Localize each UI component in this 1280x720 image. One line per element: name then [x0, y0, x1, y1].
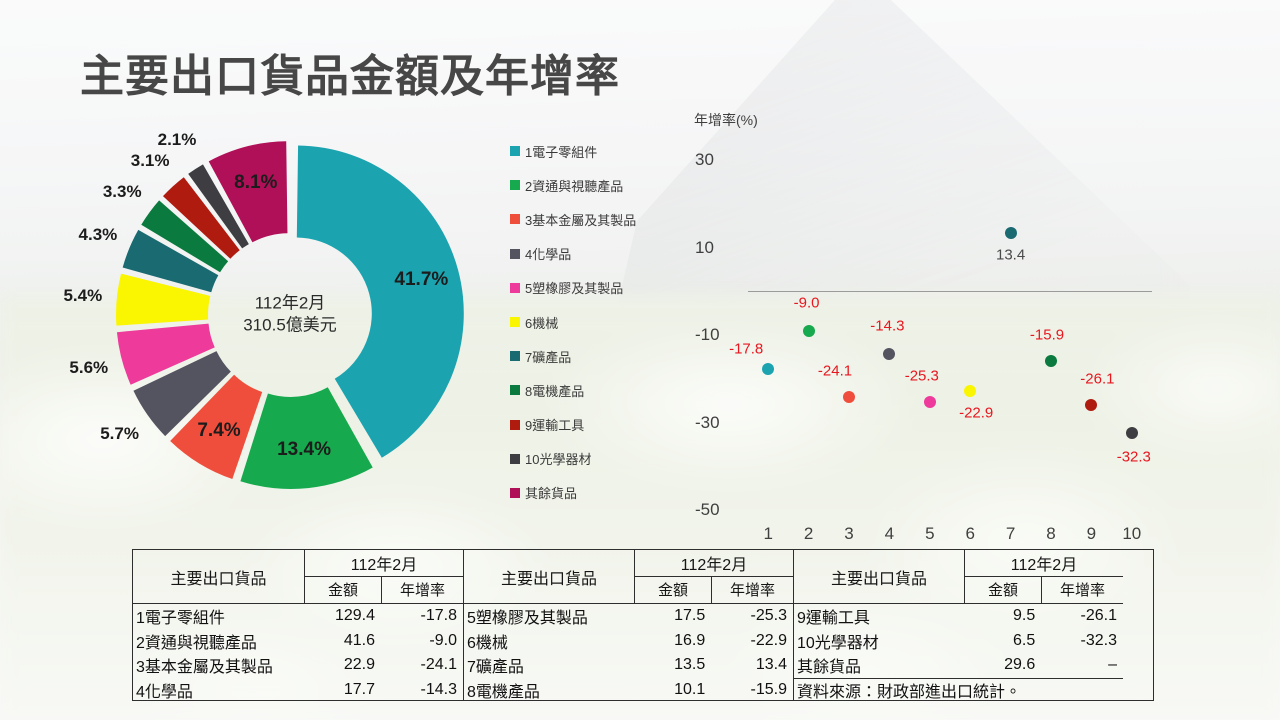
donut-percent-label: 5.4% — [63, 286, 102, 306]
legend-item-label: 8電機產品 — [525, 381, 584, 400]
table-cell-name: 其餘貨品 — [794, 653, 965, 677]
table-cell-amount: 22.9 — [305, 656, 381, 674]
table-row: 9運輸工具9.5-26.1 — [794, 604, 1123, 629]
table-cell-rate: -22.9 — [711, 632, 793, 650]
chart-legend: 1電子零組件2資通與視聽產品3基本金屬及其製品4化學品5塑橡膠及其製品6機械7礦… — [510, 134, 685, 510]
legend-item[interactable]: 10光學器材 — [510, 442, 685, 476]
donut-center-period: 112年2月 — [243, 293, 337, 315]
scatter-point-label: -26.1 — [1080, 371, 1114, 388]
legend-color-swatch-icon — [510, 214, 520, 224]
table-cell-amount: 13.5 — [635, 656, 711, 674]
scatter-x-tick-label: 7 — [1006, 524, 1015, 544]
legend-item[interactable]: 8電機產品 — [510, 373, 685, 407]
scatter-chart: 年增率(%) 3010-10-30-50 12345678910 -17.8-9… — [690, 110, 1170, 535]
table-row: 1電子零組件129.4-17.8 — [133, 604, 463, 629]
scatter-x-tick-label: 3 — [844, 524, 853, 544]
legend-item[interactable]: 4化學品 — [510, 237, 685, 271]
legend-item[interactable]: 6機械 — [510, 305, 685, 339]
scatter-zero-line — [748, 291, 1152, 292]
donut-percent-label: 8.1% — [234, 172, 277, 194]
scatter-point-label: -24.1 — [818, 362, 852, 379]
scatter-point — [843, 391, 855, 403]
table-row: 2資通與視聽產品41.6-9.0 — [133, 629, 463, 654]
table-cell-amount: 129.4 — [305, 607, 381, 625]
table-cell-amount: 17.5 — [635, 607, 711, 625]
table-row: 7礦產品13.513.4 — [464, 653, 793, 678]
donut-percent-label: 4.3% — [79, 225, 118, 245]
scatter-x-tick-label: 8 — [1046, 524, 1055, 544]
table-cell-name: 9運輸工具 — [794, 604, 965, 628]
table-cell-amount: 6.5 — [965, 632, 1041, 650]
slide-canvas: 主要出口貨品金額及年增率 41.7%13.4%7.4%5.7%5.6%5.4%4… — [0, 0, 1280, 720]
data-table: 主要出口貨品112年2月金額年增率1電子零組件129.4-17.82資通與視聽產… — [132, 549, 1154, 701]
donut-center-total: 310.5億美元 — [243, 315, 337, 337]
scatter-point — [964, 385, 976, 397]
legend-item[interactable]: 7礦產品 — [510, 339, 685, 373]
table-cell-rate: -17.8 — [381, 607, 463, 625]
table-cell-name: 7礦產品 — [464, 653, 635, 677]
table-header-row: 主要出口貨品112年2月金額年增率 — [794, 550, 1123, 604]
table-header-row: 主要出口貨品112年2月金額年增率 — [133, 550, 463, 604]
table-row: 5塑橡膠及其製品17.5-25.3 — [464, 604, 793, 629]
scatter-y-tick-label: -10 — [695, 325, 720, 345]
legend-item-label: 1電子零組件 — [525, 142, 597, 161]
scatter-y-tick-label: -30 — [695, 413, 720, 433]
table-cell-amount: 10.1 — [635, 681, 711, 699]
scatter-point-label: -22.9 — [959, 405, 993, 422]
table-block: 主要出口貨品112年2月金額年增率1電子零組件129.4-17.82資通與視聽產… — [133, 550, 463, 700]
scatter-x-tick-label: 2 — [804, 524, 813, 544]
scatter-x-tick-label: 5 — [925, 524, 934, 544]
table-cell-rate: -32.3 — [1041, 632, 1123, 650]
table-cell-rate: 13.4 — [711, 656, 793, 674]
donut-percent-label: 7.4% — [197, 420, 240, 442]
donut-percent-label: 41.7% — [394, 269, 448, 291]
legend-item[interactable]: 5塑橡膠及其製品 — [510, 271, 685, 305]
legend-item-label: 7礦產品 — [525, 347, 571, 366]
scatter-y-tick-label: 10 — [695, 238, 714, 258]
table-cell-rate: -14.3 — [381, 681, 463, 699]
scatter-point-label: -14.3 — [870, 317, 904, 334]
legend-item-label: 5塑橡膠及其製品 — [525, 278, 623, 297]
table-column-header-rate: 年增率 — [1041, 577, 1123, 603]
table-cell-rate: – — [1041, 656, 1123, 674]
scatter-x-tick-label: 6 — [965, 524, 974, 544]
scatter-point — [1085, 399, 1097, 411]
table-cell-name: 5塑橡膠及其製品 — [464, 604, 635, 628]
legend-item-label: 其餘貨品 — [525, 483, 577, 502]
table-cell-amount: 9.5 — [965, 607, 1041, 625]
legend-color-swatch-icon — [510, 180, 520, 190]
donut-percent-label: 5.6% — [69, 358, 108, 378]
table-block: 主要出口貨品112年2月金額年增率9運輸工具9.5-26.110光學器材6.5-… — [793, 550, 1123, 700]
legend-color-swatch-icon — [510, 420, 520, 430]
scatter-point — [803, 325, 815, 337]
table-cell-name: 10光學器材 — [794, 629, 965, 653]
scatter-point — [924, 396, 936, 408]
table-cell-amount: 41.6 — [305, 632, 381, 650]
scatter-point — [883, 348, 895, 360]
table-row: 4化學品17.7-14.3 — [133, 678, 463, 703]
scatter-x-tick-label: 9 — [1087, 524, 1096, 544]
donut-percent-label: 13.4% — [277, 439, 331, 461]
legend-item[interactable]: 其餘貨品 — [510, 476, 685, 510]
scatter-axis-title: 年增率(%) — [694, 110, 758, 130]
table-row: 8電機產品10.1-15.9 — [464, 678, 793, 703]
table-cell-rate: -9.0 — [381, 632, 463, 650]
table-column-header-name: 主要出口貨品 — [464, 550, 635, 603]
table-row: 3基本金屬及其製品22.9-24.1 — [133, 653, 463, 678]
donut-percent-label: 5.7% — [100, 424, 139, 444]
table-cell-amount: 16.9 — [635, 632, 711, 650]
table-cell-rate: -15.9 — [711, 681, 793, 699]
table-column-header-period: 112年2月 — [965, 550, 1123, 577]
donut-center-caption: 112年2月 310.5億美元 — [243, 293, 337, 338]
table-source-note: 資料來源：財政部進出口統計。 — [794, 678, 1123, 703]
legend-item[interactable]: 3基本金屬及其製品 — [510, 202, 685, 236]
table-body: 9運輸工具9.5-26.110光學器材6.5-32.3其餘貨品29.6– — [794, 604, 1123, 678]
legend-color-swatch-icon — [510, 351, 520, 361]
scatter-point-label: 13.4 — [996, 246, 1025, 263]
legend-color-swatch-icon — [510, 283, 520, 293]
table-column-header-amount: 金額 — [305, 577, 381, 603]
legend-color-swatch-icon — [510, 454, 520, 464]
legend-color-swatch-icon — [510, 249, 520, 259]
legend-color-swatch-icon — [510, 146, 520, 156]
donut-percent-label: 3.1% — [131, 151, 170, 171]
legend-item-label: 4化學品 — [525, 244, 571, 263]
scatter-x-tick-label: 4 — [885, 524, 894, 544]
legend-item-label: 10光學器材 — [525, 449, 591, 468]
legend-item-label: 2資通與視聽產品 — [525, 176, 623, 195]
table-column-header-amount: 金額 — [635, 577, 711, 603]
table-column-header-rate: 年增率 — [711, 577, 793, 603]
legend-item[interactable]: 2資通與視聽產品 — [510, 168, 685, 202]
table-cell-rate: -25.3 — [711, 607, 793, 625]
table-cell-amount: 17.7 — [305, 681, 381, 699]
legend-item[interactable]: 9運輸工具 — [510, 408, 685, 442]
table-body: 1電子零組件129.4-17.82資通與視聽產品41.6-9.03基本金屬及其製… — [133, 604, 463, 702]
table-cell-amount: 29.6 — [965, 656, 1041, 674]
page-title: 主要出口貨品金額及年增率 — [80, 40, 620, 104]
scatter-point — [1045, 355, 1057, 367]
legend-color-swatch-icon — [510, 488, 520, 498]
donut-percent-label: 2.1% — [158, 130, 197, 150]
table-cell-name: 1電子零組件 — [133, 604, 305, 628]
table-cell-rate: -26.1 — [1041, 607, 1123, 625]
scatter-x-tick-label: 1 — [763, 524, 772, 544]
scatter-point — [762, 363, 774, 375]
table-cell-name: 6機械 — [464, 629, 635, 653]
table-column-header-name: 主要出口貨品 — [133, 550, 305, 603]
table-column-header-amount: 金額 — [965, 577, 1041, 603]
table-column-header-period: 112年2月 — [635, 550, 793, 577]
legend-item[interactable]: 1電子零組件 — [510, 134, 685, 168]
table-row: 6機械16.9-22.9 — [464, 629, 793, 654]
scatter-point — [1126, 427, 1138, 439]
scatter-y-tick-label: -50 — [695, 500, 720, 520]
table-column-header-name: 主要出口貨品 — [794, 550, 965, 603]
scatter-point-label: -25.3 — [905, 367, 939, 384]
table-cell-name: 8電機產品 — [464, 678, 635, 702]
legend-color-swatch-icon — [510, 317, 520, 327]
scatter-point — [1005, 227, 1017, 239]
table-column-header-rate: 年增率 — [381, 577, 463, 603]
scatter-y-tick-label: 30 — [695, 150, 714, 170]
scatter-point-label: -32.3 — [1117, 448, 1151, 465]
scatter-point-label: -17.8 — [729, 341, 763, 358]
table-row: 其餘貨品29.6– — [794, 653, 1123, 678]
donut-percent-label: 3.3% — [103, 182, 142, 202]
table-row: 10光學器材6.5-32.3 — [794, 629, 1123, 654]
table-header-row: 主要出口貨品112年2月金額年增率 — [464, 550, 793, 604]
scatter-x-tick-label: 10 — [1122, 524, 1141, 544]
donut-chart: 41.7%13.4%7.4%5.7%5.6%5.4%4.3%3.3%3.1%2.… — [95, 120, 485, 510]
table-cell-name: 3基本金屬及其製品 — [133, 653, 305, 677]
table-body: 5塑橡膠及其製品17.5-25.36機械16.9-22.97礦產品13.513.… — [464, 604, 793, 702]
legend-item-label: 6機械 — [525, 313, 558, 332]
scatter-point-label: -15.9 — [1030, 326, 1064, 343]
table-cell-rate: -24.1 — [381, 656, 463, 674]
legend-color-swatch-icon — [510, 385, 520, 395]
legend-item-label: 9運輸工具 — [525, 415, 584, 434]
table-cell-name: 2資通與視聽產品 — [133, 629, 305, 653]
table-cell-name: 4化學品 — [133, 678, 305, 702]
legend-item-label: 3基本金屬及其製品 — [525, 210, 636, 229]
scatter-point-label: -9.0 — [794, 294, 820, 311]
table-block: 主要出口貨品112年2月金額年增率5塑橡膠及其製品17.5-25.36機械16.… — [463, 550, 793, 700]
table-column-header-period: 112年2月 — [305, 550, 463, 577]
